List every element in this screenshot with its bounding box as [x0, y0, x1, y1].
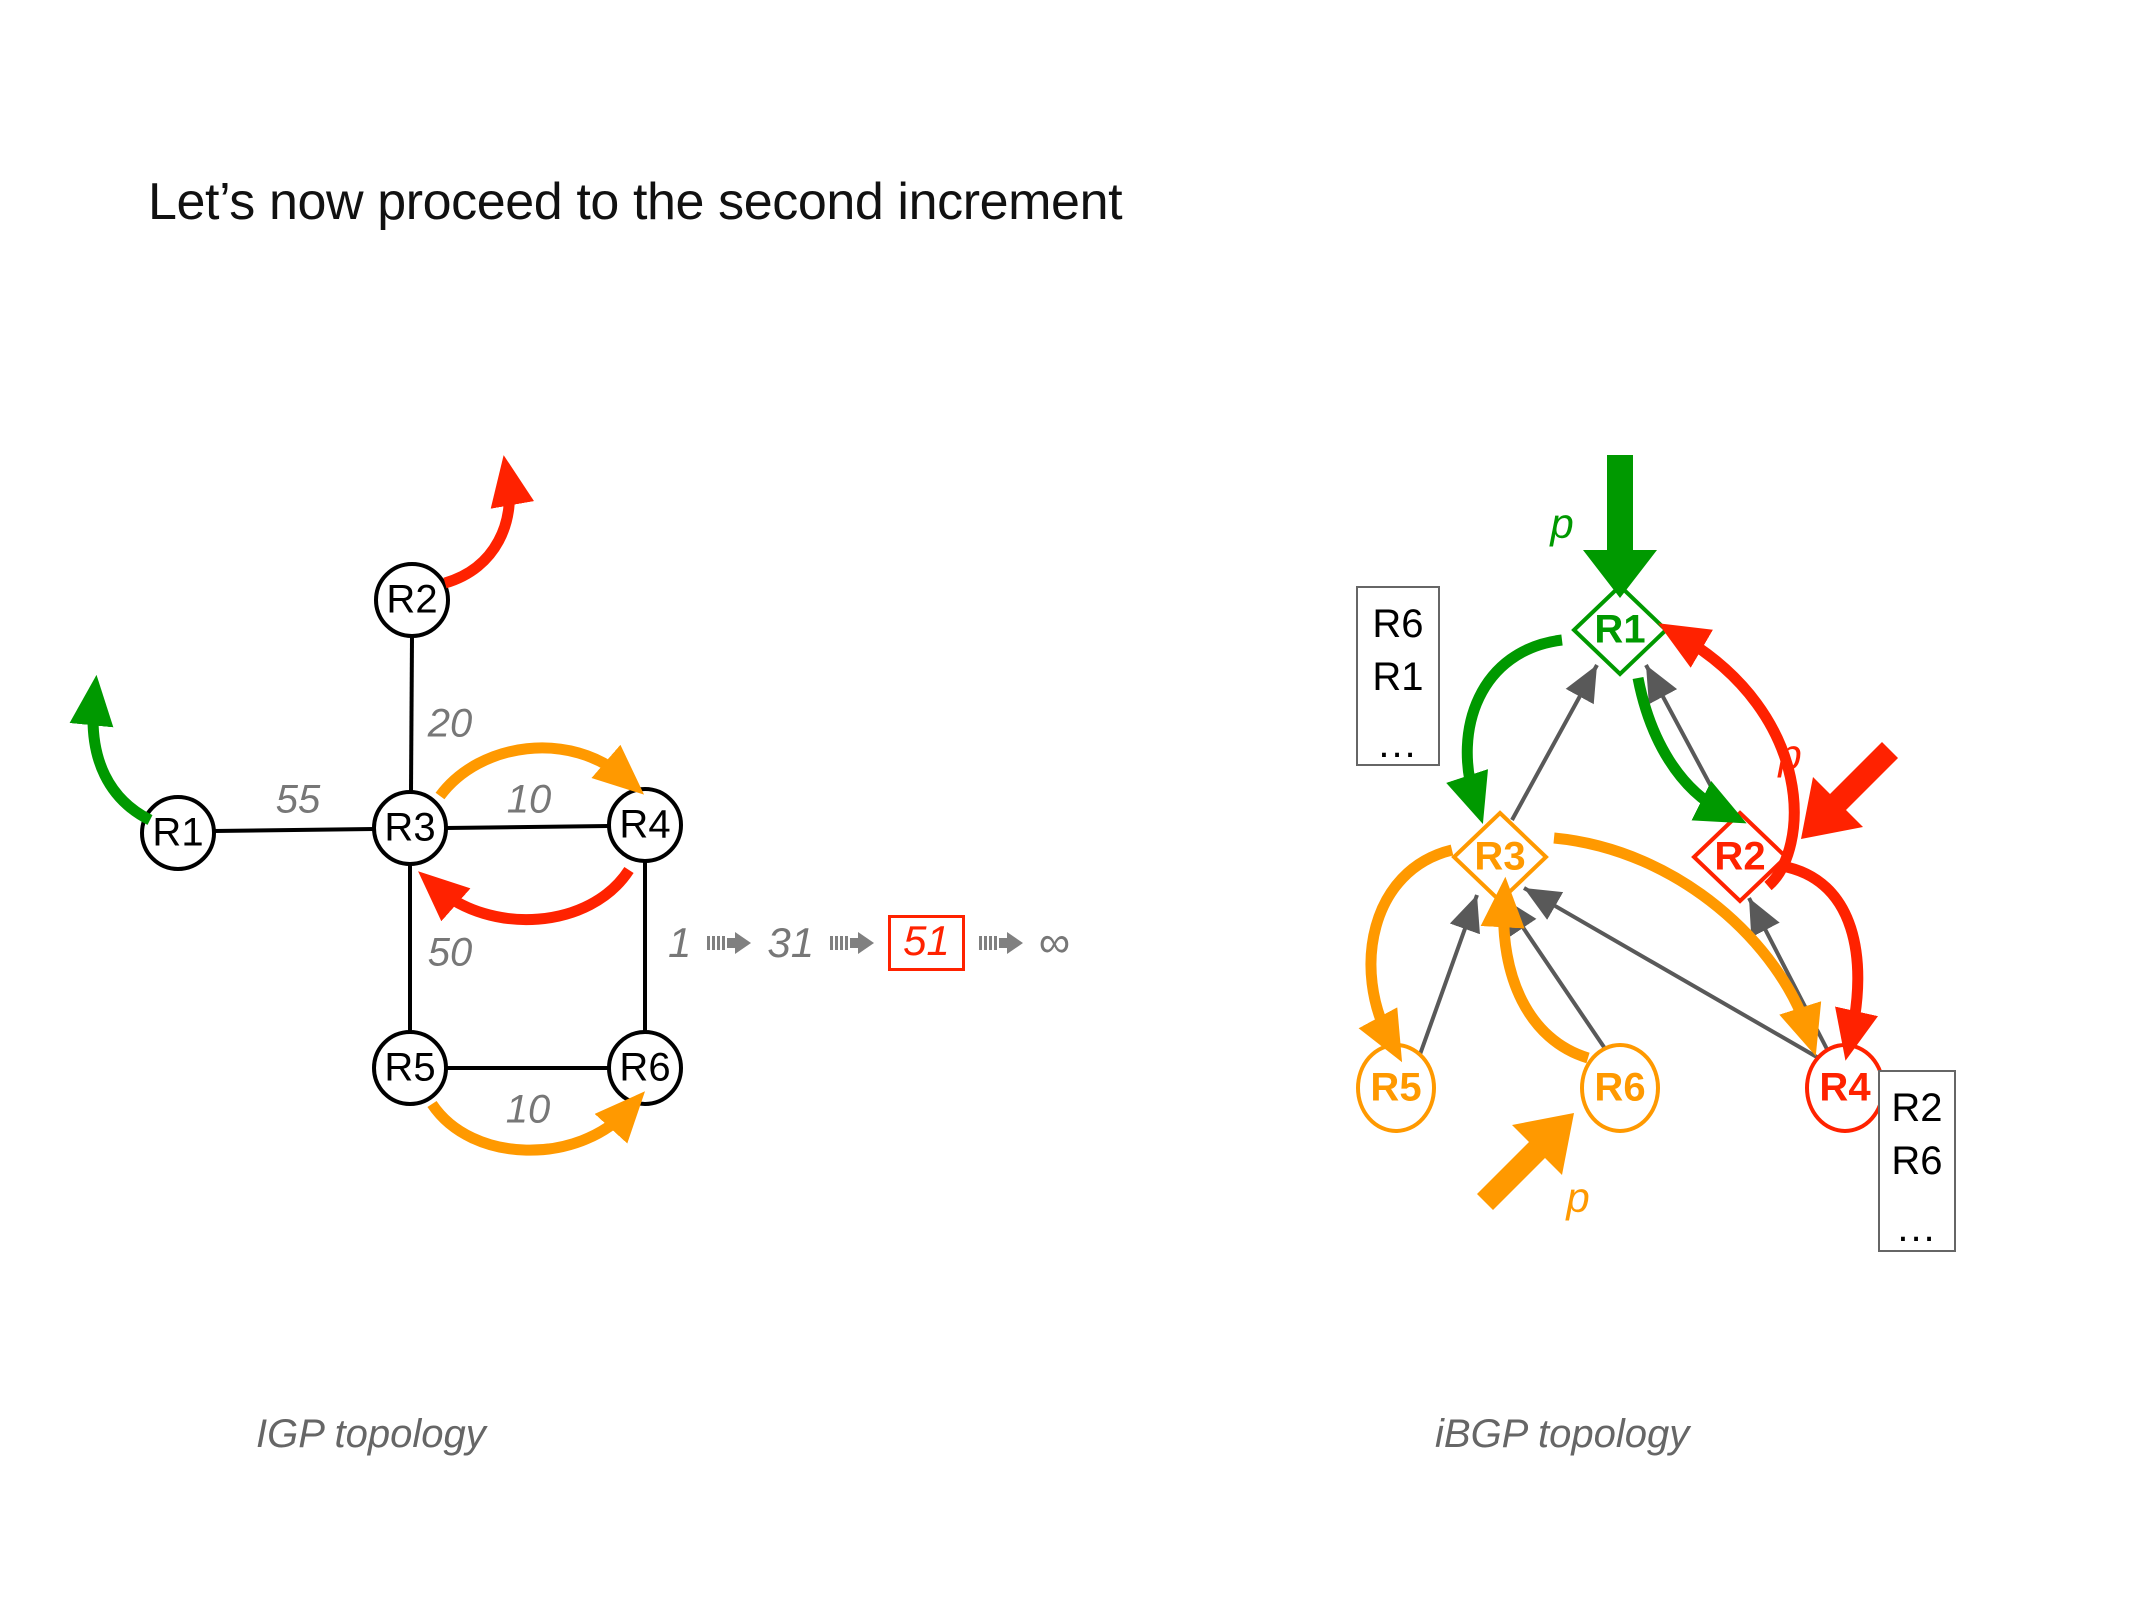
- rib-table-r4: R2 R6 ...: [1878, 1070, 1956, 1252]
- igp-node-r3: [374, 792, 446, 864]
- rib-entry: R6: [1891, 1135, 1942, 1188]
- igp-edge-weight-r3-r5: 50: [428, 931, 473, 976]
- ibgp-session-r5-r3: [1418, 895, 1477, 1060]
- sequence-arrow-icon: [830, 930, 874, 956]
- igp-node-r2: [376, 564, 448, 636]
- igp-edge-weight-r2-r3: 20: [428, 702, 473, 747]
- rib-entry: R2: [1891, 1082, 1942, 1135]
- ibgp-node-r6: [1582, 1045, 1658, 1131]
- rib-ellipsis: ...: [1897, 1202, 1936, 1255]
- igp-edge-weight-r3-r4: 10: [507, 778, 552, 823]
- igp-arrow-r4-r3-red: [437, 870, 629, 920]
- igp-node-r4: [609, 789, 681, 861]
- igp-edge-weight-r1-r3: 55: [276, 778, 321, 823]
- counter-step-3-current: 51: [888, 915, 965, 971]
- igp-node-r1: [142, 797, 214, 869]
- counter-step-1: 1: [666, 919, 693, 967]
- sequence-arrow-icon: [707, 930, 751, 956]
- ibgp-node-r5: [1358, 1045, 1434, 1131]
- ibgp-ext-arrow-red: [1801, 740, 1898, 839]
- ibgp-arc-r3-r5-orange: [1371, 850, 1452, 1040]
- ibgp-ext-arrow-green: [1583, 455, 1657, 598]
- ibgp-arc-r1-r2-green: [1638, 678, 1724, 812]
- rib-ellipsis: ...: [1378, 718, 1417, 771]
- igp-arrow-r2-red: [445, 480, 509, 583]
- caption-ibgp-topology: iBGP topology: [1435, 1412, 1689, 1457]
- igp-weight-increment-sequence: 1 31: [666, 915, 1072, 971]
- prefix-label-p-red: p: [1778, 731, 1801, 779]
- rib-table-r1: R6 R1 ...: [1356, 586, 1440, 766]
- counter-step-4: ∞: [1037, 918, 1072, 968]
- ibgp-arc-r1-r3-green: [1467, 640, 1562, 800]
- ibgp-node-r4: [1807, 1045, 1883, 1131]
- igp-arrow-r1-green: [93, 700, 150, 820]
- caption-igp-topology: IGP topology: [256, 1412, 486, 1457]
- ibgp-arc-r6-r3-orange: [1504, 902, 1588, 1058]
- igp-link-r3-r4: [446, 826, 609, 828]
- igp-link-r1-r3: [214, 829, 374, 831]
- ibgp-session-r4-r2: [1749, 898, 1830, 1055]
- sequence-arrow-icon: [979, 930, 1023, 956]
- counter-step-2: 31: [765, 919, 816, 967]
- ibgp-node-r1: [1574, 586, 1666, 674]
- ibgp-arc-r2-r4-red: [1782, 866, 1858, 1036]
- igp-node-r5: [374, 1032, 446, 1104]
- ibgp-node-r3: [1454, 813, 1546, 901]
- ibgp-session-r6-r3: [1503, 898, 1608, 1053]
- rib-entry: R6: [1372, 598, 1423, 651]
- prefix-label-p-green: p: [1550, 500, 1573, 548]
- ibgp-session-r3-r1: [1512, 665, 1597, 820]
- slide-canvas: Let’s now proceed to the second incremen…: [0, 0, 2134, 1600]
- rib-entry: R1: [1372, 651, 1423, 704]
- igp-node-r6: [609, 1032, 681, 1104]
- prefix-label-p-orange: p: [1566, 1174, 1589, 1222]
- igp-edge-weight-r5-r6: 10: [506, 1088, 551, 1133]
- igp-link-r2-r3: [411, 636, 412, 792]
- ibgp-ext-arrow-orange: [1477, 1113, 1574, 1212]
